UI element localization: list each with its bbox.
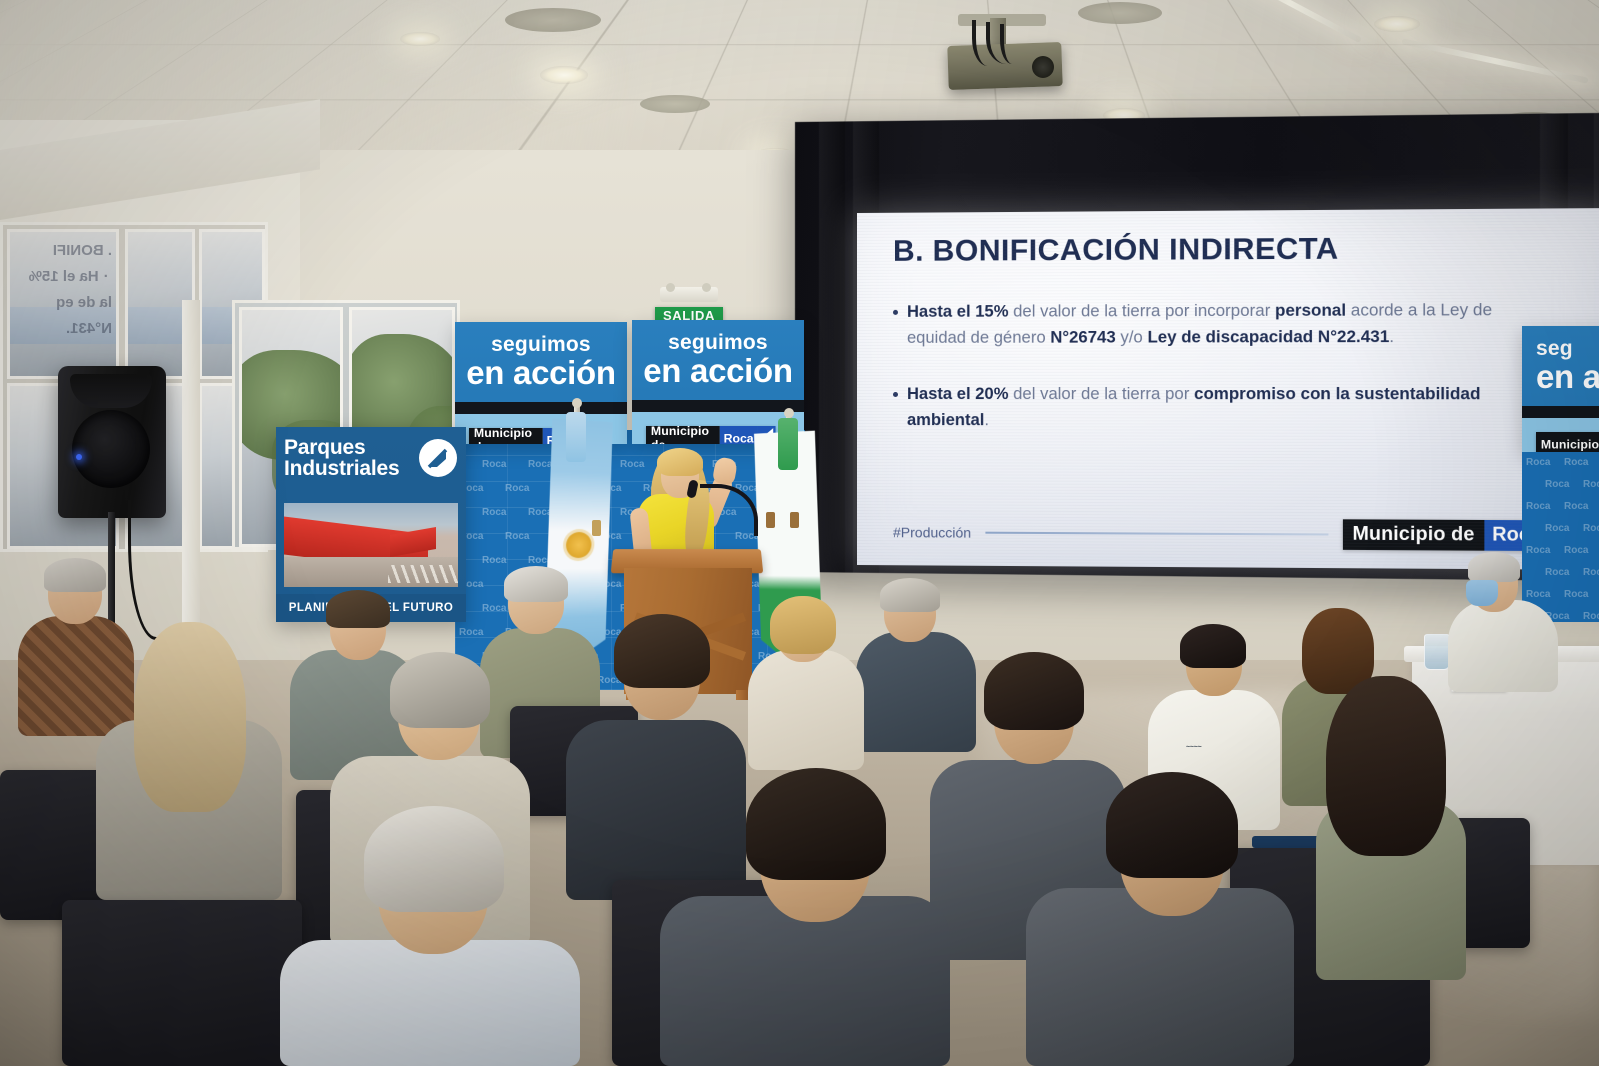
person-hair — [326, 590, 390, 628]
backdrop-roca-mark: Roca — [482, 507, 506, 518]
person-body — [18, 616, 134, 736]
sun-of-may-icon — [566, 532, 592, 558]
backdrop-roca-mark: Roca — [1526, 545, 1550, 556]
ceiling-vent — [1078, 2, 1162, 24]
backdrop-roca-mark: Roca — [1526, 501, 1550, 512]
slide-title: B. BONIFICACIÓN INDIRECTA — [893, 232, 1339, 269]
ceiling-vent — [505, 8, 601, 32]
banner-seguimos-right-cropped: seg en a Municipio — [1522, 326, 1599, 452]
person-hair — [1326, 676, 1446, 856]
flagpole-finial — [572, 398, 582, 408]
banner-line1: seguimos — [455, 334, 627, 355]
arrow-diagonal-circle-icon — [419, 439, 457, 477]
backdrop-roca-mark: Roca — [1564, 501, 1588, 512]
person-body — [1448, 600, 1558, 692]
backdrop-roca-mark: Roca — [528, 459, 552, 470]
bullet-dot-icon — [893, 392, 898, 397]
road-markings — [388, 565, 458, 583]
person-hair — [984, 652, 1084, 730]
person-hair — [1180, 624, 1246, 668]
flag-furl — [778, 418, 798, 470]
banner-headline: seguimos en acción — [455, 322, 627, 391]
banner-line1: seg — [1536, 338, 1599, 359]
backdrop-roca-mark: Roca — [1526, 457, 1550, 468]
person-hair — [770, 596, 836, 654]
backdrop-roca-mark: Roca — [482, 603, 506, 614]
flag-cord-tassel — [592, 520, 601, 536]
backdrop-strip-right: RocaRocaRocaRocaRocaRocaRocaRocaRocaRoca… — [1522, 452, 1599, 622]
projector-lens-icon — [1032, 56, 1054, 78]
audience-chair — [62, 900, 302, 1066]
banner-headline: seg en a — [1522, 326, 1599, 395]
window-slide-reflection: . BONIFI · Ha el 15%la de eqN°431. — [10, 232, 116, 376]
person-hair — [1106, 772, 1238, 878]
person-hair — [746, 768, 886, 880]
person-hair — [504, 566, 568, 602]
backdrop-roca-mark: Roca — [505, 483, 529, 494]
logo-municipio-text: Municipio de — [469, 428, 542, 444]
logo-municipio-text: Municipio de — [1343, 519, 1484, 550]
banner-lower-panel: Municipio — [1522, 418, 1599, 452]
presentation-scene-photo: . BONIFI · Ha el 15%la de eqN°431. eldei… — [0, 0, 1599, 1066]
backdrop-roca-mark: Roca — [459, 627, 483, 638]
logo-municipio-text: Municipio — [1536, 432, 1599, 452]
backdrop-roca-mark: Roca — [1583, 479, 1599, 490]
banner-rule — [1522, 406, 1599, 418]
emergency-bulb-icon — [666, 283, 675, 292]
flag-furl — [566, 412, 586, 462]
slide-bullet-list: Hasta el 15% del valor de la tierra por … — [893, 297, 1549, 465]
slide-bullet-item: Hasta el 15% del valor de la tierra por … — [893, 297, 1549, 351]
face-mask — [1466, 580, 1498, 606]
backdrop-roca-mark: Roca — [1564, 589, 1588, 600]
flag-cord-tassel — [790, 512, 799, 528]
flagpole-finial — [784, 408, 794, 418]
flag-cord-tassel — [766, 512, 775, 528]
backdrop-roca-mark: Roca — [1526, 589, 1550, 600]
logo-municipio-text: Municipio de — [646, 426, 719, 444]
person-hair — [880, 578, 940, 612]
person-hair — [390, 652, 490, 728]
banner-rule — [632, 400, 804, 412]
ceiling-downlight — [1374, 16, 1420, 32]
banner-rule — [455, 402, 627, 414]
speaker-power-led — [76, 454, 82, 460]
emergency-bulb-icon — [702, 283, 711, 292]
backdrop-roca-mark: Roca — [482, 555, 506, 566]
person-body — [280, 940, 580, 1066]
backdrop-roca-mark: Roca — [482, 459, 506, 470]
polo-shirt-logo: ~~~~ — [1186, 744, 1202, 751]
emergency-light — [660, 287, 718, 302]
backdrop-roca-mark: Roca — [505, 531, 529, 542]
logo-roca-text: Roca — [719, 426, 757, 444]
ceiling-downlight — [400, 32, 440, 46]
backdrop-roca-mark: Roca — [620, 459, 644, 470]
person-body — [856, 632, 976, 752]
banner-line2: en acción — [632, 353, 804, 389]
banner-line2: en a — [1536, 359, 1599, 395]
slide-bullet-text: Hasta el 20% del valor de la tierra por … — [907, 381, 1522, 434]
person-body — [748, 650, 864, 770]
ceiling-downlight — [540, 66, 588, 84]
person-hair — [1468, 552, 1520, 582]
backdrop-roca-mark: Roca — [1583, 567, 1599, 578]
backdrop-roca-mark: Roca — [1545, 567, 1569, 578]
footer-divider — [985, 532, 1328, 535]
person-hair — [134, 622, 246, 812]
person-hair — [614, 614, 710, 688]
banner-line2: en acción — [455, 355, 627, 391]
projection-screen: B. BONIFICACIÓN INDIRECTA Hasta el 15% d… — [857, 208, 1599, 570]
person-hair — [44, 558, 106, 592]
municipio-de-roca-logo: Municipio — [1536, 432, 1599, 452]
backdrop-roca-mark: Roca — [1564, 545, 1588, 556]
drape-fold — [819, 121, 845, 572]
water-pitcher — [1424, 634, 1450, 670]
banner-line1: seguimos — [632, 332, 804, 353]
backdrop-roca-mark: Roca — [1564, 457, 1588, 468]
backdrop-roca-mark: Roca — [528, 507, 552, 518]
speaker-cone-icon — [72, 410, 150, 488]
person-hair — [364, 806, 504, 912]
pa-loudspeaker — [58, 366, 166, 518]
backdrop-roca-mark: Roca — [1545, 523, 1569, 534]
slide-bullet-item: Hasta el 20% del valor de la tierra por … — [893, 381, 1549, 434]
bullet-dot-icon — [893, 310, 898, 315]
speaker-horn — [70, 374, 152, 408]
backdrop-roca-mark: Roca — [1583, 523, 1599, 534]
backdrop-roca-mark: Roca — [1545, 479, 1569, 490]
slide-bullet-text: Hasta el 15% del valor de la tierra por … — [907, 297, 1522, 351]
slide-hashtag: #Producción — [893, 524, 971, 540]
backdrop-roca-mark: Roca — [1583, 611, 1599, 622]
parques-render-photo — [284, 503, 458, 587]
banner-headline: seguimos en acción — [632, 320, 804, 389]
ceiling-vent — [640, 95, 710, 113]
person-body — [566, 720, 746, 900]
window-pane: . BONIFI · Ha el 15%la de eqN°431. — [7, 229, 119, 379]
slide-footer: #Producción Municipio de Roca — [893, 517, 1584, 551]
presenter-hair-top — [657, 448, 703, 476]
